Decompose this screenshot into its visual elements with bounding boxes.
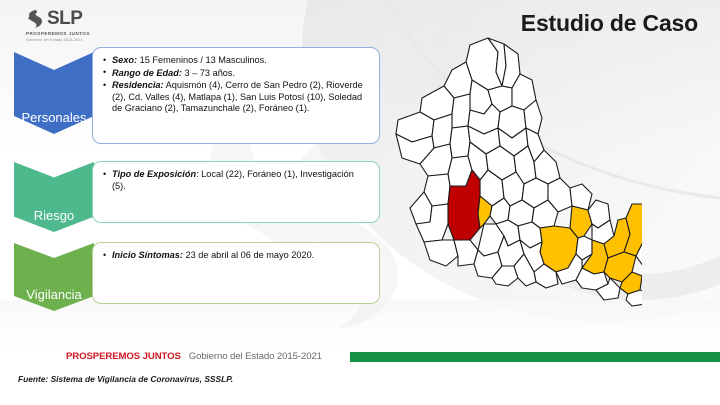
slp-watermark-icon (168, 108, 418, 358)
content-box-personales: Sexo: 15 Femeninos / 13 Masculinos. Rang… (92, 47, 380, 144)
footer-brand-line: PROSPEREMOS JUNTOS Gobierno del Estado 2… (66, 351, 322, 362)
slp-logo-subline: Gobierno del Estado 2015-2021 (26, 38, 134, 42)
slp-logo-tagline: PROSPEREMOS JUNTOS (26, 31, 134, 36)
bullet-list-personales: Sexo: 15 Femeninos / 13 Masculinos. Rang… (99, 55, 369, 115)
bullet-text: 3 – 73 años. (182, 68, 235, 78)
stage-label-personales: Personales (21, 110, 86, 125)
bullet-lead: Residencia: (112, 80, 164, 90)
footer-green-bar (350, 352, 720, 362)
bullet-text: 15 Femeninos / 13 Masculinos. (137, 55, 267, 65)
list-item: Sexo: 15 Femeninos / 13 Masculinos. (112, 55, 369, 67)
source-note: Fuente: Sistema de Vigilancia de Coronav… (18, 374, 233, 384)
bullet-text: 23 de abril al 06 de mayo 2020. (183, 250, 314, 260)
stage-label-riesgo: Riesgo (34, 208, 74, 223)
slp-logo-wordmark: SLP (47, 9, 82, 28)
list-item: Inicio Síntomas: 23 de abril al 06 de ma… (112, 250, 369, 262)
footer-government: Gobierno del Estado 2015-2021 (189, 351, 322, 362)
stage-label-vigilancia: Vigilancia (26, 287, 81, 302)
footer-brand: PROSPEREMOS JUNTOS (66, 351, 181, 362)
bullet-lead: Inicio Síntomas: (112, 250, 183, 260)
content-box-riesgo: Tipo de Exposición: Local (22), Foráneo … (92, 161, 380, 223)
bullet-list-riesgo: Tipo de Exposición: Local (22), Foráneo … (99, 169, 369, 192)
state-map-san-luis-potosi (392, 28, 642, 310)
slide-canvas: SLP PROSPEREMOS JUNTOS Gobierno del Esta… (0, 0, 720, 405)
bullet-lead: Rango de Edad: (112, 68, 182, 78)
list-item: Rango de Edad: 3 – 73 años. (112, 68, 369, 80)
bullet-lead: Sexo: (112, 55, 137, 65)
bullet-list-vigilancia: Inicio Síntomas: 23 de abril al 06 de ma… (99, 250, 369, 262)
content-box-vigilancia: Inicio Síntomas: 23 de abril al 06 de ma… (92, 242, 380, 304)
list-item: Residencia: Aquismón (4), Cerro de San P… (112, 80, 369, 115)
slp-swirl-icon (26, 8, 46, 28)
slp-logo: SLP PROSPEREMOS JUNTOS Gobierno del Esta… (26, 8, 134, 42)
list-item: Tipo de Exposición: Local (22), Foráneo … (112, 169, 369, 192)
bullet-lead: Tipo de Exposición (112, 169, 196, 179)
